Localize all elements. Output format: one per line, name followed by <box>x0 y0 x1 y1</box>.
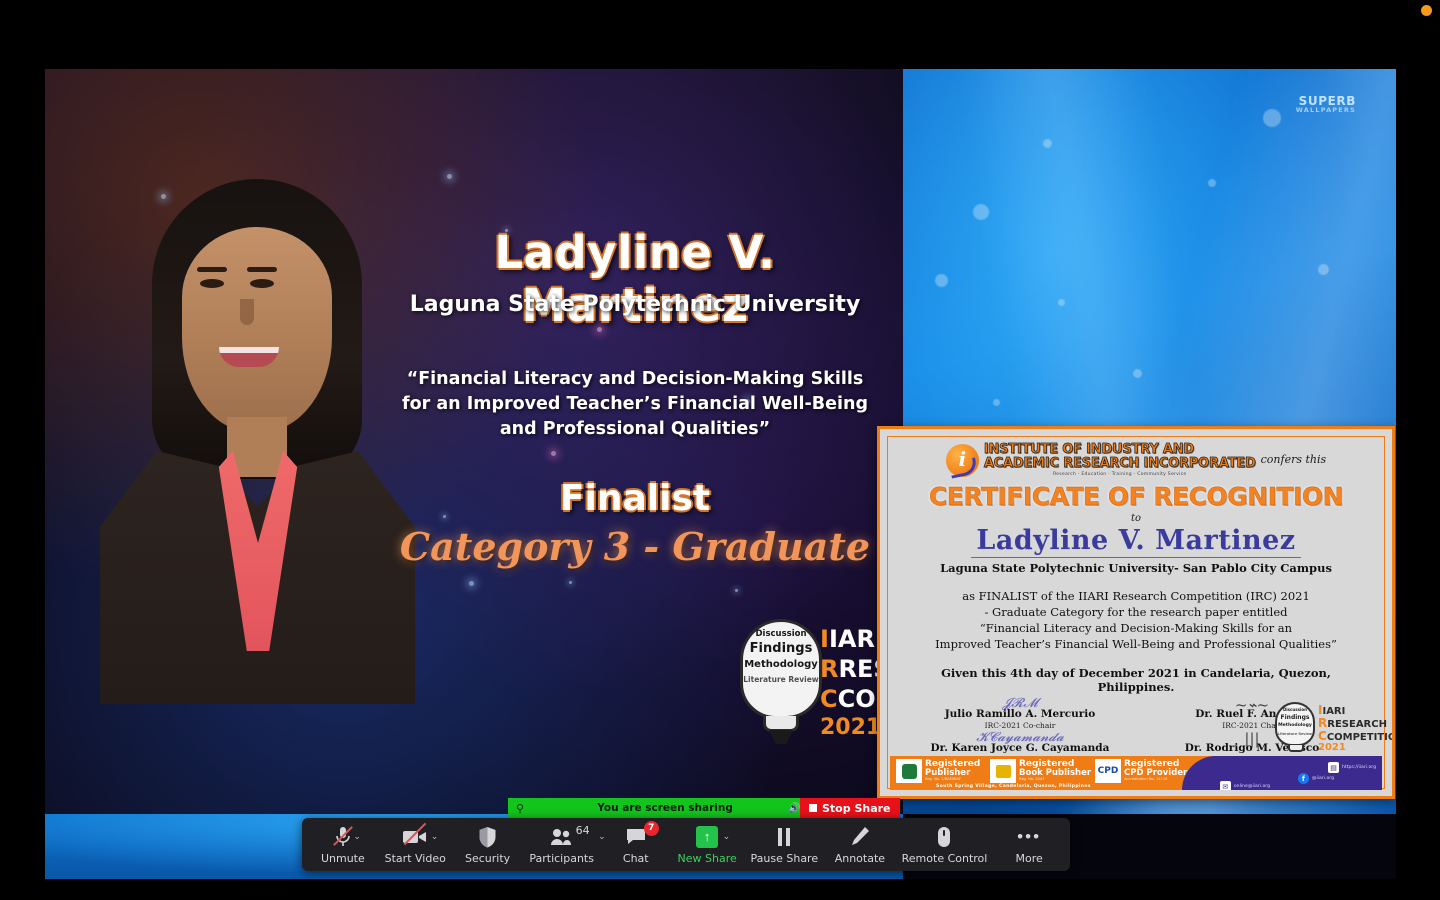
footer-social-facebook: f @iiari.org <box>1298 773 1334 784</box>
bulb-line-literature-review: Literature Review <box>1275 732 1315 736</box>
signature-mark-icon: 𝓙𝓡𝓜 <box>1002 696 1038 711</box>
annotate-label: Annotate <box>835 852 885 865</box>
body-line-2: - Graduate Category for the research pap… <box>904 604 1368 620</box>
bulb-line-literature-review: Literature Review <box>740 675 822 684</box>
slide-award-label: Finalist <box>375 478 895 519</box>
pause-share-label: Pause Share <box>751 852 819 865</box>
irc-word-research: RRESEARCH <box>1318 716 1387 730</box>
zoom-meeting-toolbar[interactable]: ⌄ Unmute ⌄ Start Video Security 64 ⌄ <box>302 818 1070 871</box>
bulb-line-discussion: Discussion <box>1275 707 1315 712</box>
body-line-3: “Financial Literacy and Decision-Making … <box>904 620 1368 636</box>
confers-text: confers this <box>1261 453 1327 466</box>
sharing-status-text: You are screen sharing <box>524 802 788 814</box>
screen-root: Ladyline V. Martinez Laguna State Polyte… <box>0 0 1440 900</box>
book-publisher-seal-icon <box>990 759 1016 783</box>
stop-share-label: Stop Share <box>822 802 891 815</box>
awardee-underline <box>971 557 1301 558</box>
pencil-icon <box>850 825 870 849</box>
footer-social-website: ▤ https://iiari.org <box>1328 762 1376 773</box>
presentation-slide: Ladyline V. Martinez Laguna State Polyte… <box>45 69 903 814</box>
org-tagline: Research - Education - Training - Commun… <box>984 472 1256 477</box>
pause-share-button[interactable]: Pause Share <box>751 818 819 871</box>
certificate-header: i INSTITUTE OF INDUSTRY AND ACADEMIC RES… <box>904 443 1368 477</box>
unmute-label: Unmute <box>321 852 365 865</box>
start-video-label: Start Video <box>385 852 446 865</box>
irc-word-competition: CCOMPETITION <box>1318 729 1395 743</box>
shared-screen-viewport[interactable]: Ladyline V. Martinez Laguna State Polyte… <box>45 69 1396 879</box>
social-text: https://iiari.org <box>1342 765 1376 770</box>
footer-badge-cpd-provider: CPD Registered CPD Provider Accreditatio… <box>1095 759 1187 783</box>
badge-note: Reg. No. 2443 <box>1019 778 1091 782</box>
security-button[interactable]: Security <box>460 818 516 871</box>
certificate-panel: i INSTITUTE OF INDUSTRY AND ACADEMIC RES… <box>877 426 1395 799</box>
camera-off-icon: ⌄ <box>402 825 428 849</box>
security-label: Security <box>465 852 510 865</box>
irc-word-year: 2021 <box>1318 742 1346 753</box>
social-text: online@iiari.org <box>1234 784 1270 789</box>
remote-control-label: Remote Control <box>902 852 988 865</box>
signatory-block: 𝓙𝓡𝓜 Julio Ramillo A. Mercurio IRC-2021 C… <box>904 708 1136 730</box>
signature-mark-icon: ~⌁~ <box>1235 696 1269 714</box>
social-text: @iiari.org <box>1312 776 1334 781</box>
footer-badge-book-publisher: Registered Book Publisher Reg. No. 2443 <box>990 759 1091 783</box>
certificate-irc-logo: Discussion Findings Methodology Literatu… <box>1275 702 1380 760</box>
unmute-button[interactable]: ⌄ Unmute <box>315 818 371 871</box>
watermark-line-2: WALLPAPERS <box>1296 107 1356 114</box>
new-share-button[interactable]: ↑ ⌄ New Share <box>678 818 737 871</box>
footer-badge-publisher: Registered Publisher Reg. No. 1/BAMINAF <box>896 759 980 783</box>
chat-button[interactable]: 7 Chat <box>608 818 664 871</box>
slide-paper-title: “Financial Literacy and Decision-Making … <box>400 367 870 442</box>
irc-word-year: 2021 <box>820 715 881 740</box>
mouse-icon <box>937 825 951 849</box>
certificate-to-label: to <box>904 513 1368 524</box>
bulb-line-findings: Findings <box>740 641 822 656</box>
bulb-line-methodology: Methodology <box>740 659 822 670</box>
footer-social-email: ✉ online@iiari.org <box>1220 781 1270 790</box>
chat-unread-badge: 7 <box>644 821 659 836</box>
chevron-down-icon[interactable]: ⌄ <box>353 831 361 842</box>
share-up-arrow-icon: ↑ ⌄ <box>696 825 718 849</box>
signature-mark-icon: 𝓚𝓒𝓪𝔂𝓪𝓶𝓪𝓷𝓭𝓪 <box>976 730 1064 745</box>
more-button[interactable]: ••• More <box>1001 818 1057 871</box>
certificate-heading: CERTIFICATE OF RECOGNITION <box>904 482 1368 511</box>
bulb-line-findings: Findings <box>1275 714 1315 721</box>
signatory-role: IRC-2021 Co-chair <box>904 721 1136 730</box>
org-line-1: INSTITUTE OF INDUSTRY AND <box>984 443 1256 457</box>
participants-button[interactable]: 64 ⌄ Participants <box>529 818 594 871</box>
recording-status-dot <box>1421 5 1432 16</box>
more-label: More <box>1015 852 1042 865</box>
stop-share-button[interactable]: Stop Share <box>800 798 900 818</box>
certificate-given-date: Given this 4th day of December 2021 in C… <box>904 666 1368 694</box>
facebook-icon: f <box>1298 773 1309 784</box>
signature-mark-icon: ||| <box>1244 730 1259 748</box>
participants-icon: 64 ⌄ <box>550 825 574 849</box>
bulb-line-methodology: Methodology <box>1275 723 1315 728</box>
wallpaper-watermark: SUPERB WALLPAPERS <box>1296 95 1356 114</box>
chat-bubble-icon: 7 <box>625 825 647 849</box>
certificate-body: as FINALIST of the IIARI Research Compet… <box>904 588 1368 652</box>
footer-address: South Spring Village, Candelaria, Quezon… <box>936 784 1091 789</box>
ellipsis-icon: ••• <box>1017 825 1041 849</box>
remote-control-button[interactable]: Remote Control <box>902 818 988 871</box>
pin-icon[interactable]: ⚲ <box>516 802 524 815</box>
start-video-button[interactable]: ⌄ Start Video <box>385 818 446 871</box>
chevron-down-icon[interactable]: ⌄ <box>598 831 606 842</box>
certificate-affiliation: Laguna State Polytechnic University- San… <box>904 561 1368 575</box>
cpd-seal-icon: CPD <box>1095 759 1121 783</box>
participants-label: Participants <box>529 852 594 865</box>
pause-icon <box>776 825 792 849</box>
badge-note: Reg. No. 1/BAMINAF <box>925 778 980 782</box>
stop-square-icon <box>809 804 817 812</box>
chevron-down-icon[interactable]: ⌄ <box>723 831 731 842</box>
certificate-footer-bar: Registered Publisher Reg. No. 1/BAMINAF … <box>890 756 1382 790</box>
publisher-seal-icon <box>896 759 922 783</box>
website-icon: ▤ <box>1328 762 1339 773</box>
body-line-1: as FINALIST of the IIARI Research Compet… <box>904 588 1368 604</box>
slide-category-label: Category 3 - Graduate <box>375 524 895 569</box>
iiari-logo-icon: i <box>946 444 979 477</box>
slide-university: Laguna State Polytechnic University <box>375 292 895 317</box>
presenter-photo <box>100 179 415 704</box>
email-icon: ✉ <box>1220 781 1231 790</box>
microphone-muted-icon: ⌄ <box>335 825 351 849</box>
irc-word-iari: IIARI <box>1318 703 1345 717</box>
shield-icon <box>478 825 497 849</box>
bulb-line-discussion: Discussion <box>740 629 822 639</box>
irc-word-iari: IIARI <box>820 625 884 653</box>
chevron-down-icon[interactable]: ⌄ <box>431 831 439 842</box>
annotate-button[interactable]: Annotate <box>832 818 888 871</box>
chat-label: Chat <box>623 852 649 865</box>
new-share-label: New Share <box>678 852 737 865</box>
speaker-icon[interactable]: 🔊 <box>788 803 800 814</box>
certificate-awardee-name: Ladyline V. Martinez <box>904 525 1368 556</box>
badge-note: Accreditation No. 14110 <box>1124 778 1187 782</box>
org-line-2: ACADEMIC RESEARCH INCORPORATED <box>984 457 1256 471</box>
body-line-4: Improved Teacher’s Financial Well-Being … <box>904 636 1368 652</box>
participants-count: 64 <box>576 824 590 837</box>
